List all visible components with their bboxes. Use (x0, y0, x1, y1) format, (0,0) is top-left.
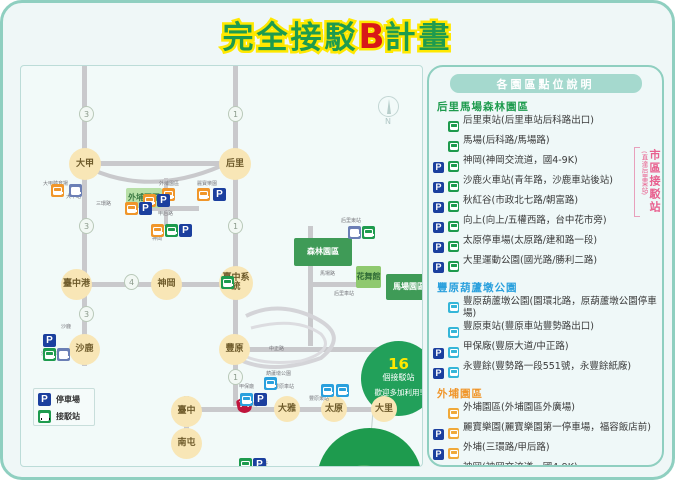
zone-stop-item[interactable]: P沙鹿火車站(青年路，沙鹿車站後站) (433, 175, 662, 194)
map-zone-box[interactable]: 花舞館 (356, 266, 381, 288)
shuttle-bus-icon (448, 367, 459, 378)
map-station-label: 后里車站 (334, 291, 354, 297)
compass-icon: N (376, 96, 400, 126)
shuttle-bus-icon (448, 448, 459, 459)
parking-icon[interactable]: P (139, 202, 152, 215)
shuttle-bus-icon (448, 161, 459, 172)
zone-stop-label: 甲保廠(豐原大道/中正路) (463, 341, 662, 353)
title-badge-b: B (359, 17, 385, 57)
zone-section-title: 豐原葫蘆墩公園 (437, 280, 662, 295)
zone-stop-label: 向上(向上/五權西路，台中花市旁) (463, 215, 662, 227)
shuttle-bus-icon (38, 410, 51, 423)
parking-icon: P (433, 242, 444, 253)
zone-stop-label: 馬場(后科路/馬場路) (463, 135, 662, 147)
leopard-cat-mascot (328, 458, 400, 467)
shuttle-bus-icon (448, 428, 459, 439)
map-zone-box[interactable]: 森林園區 (294, 238, 352, 266)
zone-stop-item[interactable]: P秋紅谷(市政北七路/朝富路) (433, 195, 662, 214)
map-canvas: N 16 個接駁站 歡迎多加利用! P 停車場 接駁站 (21, 66, 422, 466)
shuttle-count-number: 16 (388, 358, 409, 371)
highway-marker-icon: 1 (228, 369, 243, 385)
map-city-node[interactable]: 大雅 (274, 396, 300, 422)
zone-stop-label: 后里東站(后里車站后科路出口) (463, 115, 662, 127)
parking-icon[interactable]: P (213, 188, 226, 201)
shuttle-bus-icon (448, 121, 459, 132)
legend-label-parking: 停車場 (56, 394, 80, 405)
shuttle-bus-icon (448, 347, 459, 358)
zone-stop-item[interactable]: P大里運動公園(國光路/勝利二路) (433, 255, 662, 274)
zone-stop-label: 大里運動公園(國光路/勝利二路) (463, 255, 662, 267)
map-city-node[interactable]: 臺中 (171, 396, 202, 427)
shuttle-bus-icon[interactable] (51, 184, 64, 197)
highway-marker-icon: 3 (79, 218, 94, 234)
shuttle-bus-icon (448, 302, 459, 313)
map-station-label: 沙鹿 (61, 324, 71, 330)
shuttle-bus-icon[interactable] (239, 458, 252, 467)
shuttle-bus-icon (448, 221, 459, 232)
map-city-node[interactable]: 南屯 (171, 428, 202, 459)
zone-info-panel[interactable]: 各園區點位說明 后里馬場森林園區后里東站(后里車站后科路出口)馬場(后科路/馬場… (427, 65, 664, 467)
city-shuttle-badge: 市區接駁站 (直達后里東站) (640, 149, 660, 214)
parking-icon: P (433, 429, 444, 440)
map-station-label: 甲保廠 (239, 384, 254, 390)
zone-stop-item[interactable]: P神岡(神岡交流道，國4-9K) (433, 155, 662, 174)
parking-icon: P (433, 162, 444, 173)
title-text-a: 完全接駁 (223, 18, 359, 58)
shuttle-count-unit: 個接駁站 (383, 371, 415, 384)
zone-stop-item[interactable]: 馬場(后科路/馬場路) (433, 135, 662, 154)
map-city-node[interactable]: 豐原 (219, 334, 250, 365)
zone-stop-label: 太原停車場(太原路/建和路一段) (463, 235, 662, 247)
zone-stop-item[interactable]: 后里東站(后里車站后科路出口) (433, 115, 662, 134)
shuttle-bus-icon[interactable] (264, 377, 277, 390)
zone-sections: 后里馬場森林園區后里東站(后里車站后科路出口)馬場(后科路/馬場路)P神岡(神岡… (429, 99, 662, 467)
road-horizontal-dajia-houli (82, 161, 237, 166)
parking-icon: P (433, 368, 444, 379)
map-city-node[interactable]: 神岡 (151, 269, 182, 300)
zone-section: 豐原葫蘆墩公園豐原葫蘆墩公園(園環北路，原葫蘆墩公園停車場)豐原東站(豐原車站豐… (429, 280, 662, 380)
map-station-label: 后里東站 (341, 218, 361, 224)
map-station-label: 甲后路 (158, 211, 173, 217)
zone-stop-item[interactable]: 外埔園區(外埔園區外廣場) (433, 402, 662, 421)
shuttle-bus-icon (448, 181, 459, 192)
zone-stop-label: 外埔園區(外埔園區外廣場) (463, 402, 662, 414)
road-horizontal-fengyuan (233, 347, 383, 352)
title-text-b: 計畫 (384, 18, 452, 58)
parking-icon[interactable]: P (253, 458, 266, 467)
map-city-node[interactable]: 大里 (371, 396, 397, 422)
shuttle-bus-icon (448, 241, 459, 252)
zone-info-header: 各園區點位說明 (450, 74, 642, 93)
city-shuttle-badge-sub: (直達后里東站) (640, 151, 648, 195)
zone-stop-item[interactable]: P麗寶樂園(麗寶樂園第一停車場，福容飯店前) (433, 422, 662, 441)
zone-stop-item[interactable]: P神岡(神岡交流道，國4-9K) (433, 462, 662, 467)
parking-icon: P (433, 202, 444, 213)
legend-item-shuttle: 接駁站 (38, 410, 90, 423)
map-station-label: 中正路 (269, 346, 284, 352)
zone-section: 后里馬場森林園區后里東站(后里車站后科路出口)馬場(后科路/馬場路)P神岡(神岡… (429, 99, 662, 274)
zone-stop-item[interactable]: 豐原葫蘆墩公園(園環北路，原葫蘆墩公園停車場) (433, 296, 662, 320)
highway-marker-icon: 3 (79, 306, 94, 322)
shuttle-bus-icon[interactable] (336, 384, 349, 397)
map-city-node[interactable]: 大甲 (69, 148, 101, 180)
shuttle-bus-icon[interactable] (151, 224, 164, 237)
parking-icon: P (433, 348, 444, 359)
map-station-label: 外埔園區 (159, 181, 179, 187)
map-station-label: 豐原車站 (274, 384, 294, 390)
parking-icon[interactable]: P (179, 224, 192, 237)
map-zone-box[interactable]: 馬場園區 (386, 274, 423, 300)
shuttle-bus-icon (448, 327, 459, 338)
zone-stop-label: 豐原東站(豐原車站豐勢路出口) (463, 321, 662, 333)
highway-marker-icon: 3 (79, 106, 94, 122)
highway-marker-icon: 1 (228, 218, 243, 234)
parking-icon[interactable]: P (254, 393, 267, 406)
map-station-label: 麗寶樂園 (197, 181, 217, 187)
station-marker-icon[interactable] (348, 226, 361, 239)
map-city-node[interactable]: 沙鹿 (69, 334, 100, 365)
shuttle-bus-icon (448, 408, 459, 419)
shuttle-bus-icon[interactable] (125, 202, 138, 215)
zone-stop-item[interactable]: P永豐餘(豐勢路一段551號，永豐餘紙廠) (433, 361, 662, 380)
zone-stop-item[interactable]: P甲保廠(豐原大道/中正路) (433, 341, 662, 360)
page-title: 完全接駁B計畫 (3, 17, 672, 59)
zone-stop-label: 沙鹿火車站(青年路，沙鹿車站後站) (463, 175, 662, 187)
map-city-node[interactable]: 臺中港 (61, 269, 92, 300)
zone-stop-item[interactable]: 豐原東站(豐原車站豐勢路出口) (433, 321, 662, 340)
highway-marker-icon: 4 (124, 274, 139, 290)
zone-stop-item[interactable]: P太原停車場(太原路/建和路一段) (433, 235, 662, 254)
compass-label: N (376, 117, 400, 126)
zone-section-title: 后里馬場森林園區 (437, 99, 662, 114)
city-shuttle-badge-main: 市區接駁站 (648, 149, 660, 214)
parking-icon: P (433, 262, 444, 273)
map-legend: P 停車場 接駁站 (33, 388, 95, 426)
zone-stop-label: 麗寶樂園(麗寶樂園第一停車場，福容飯店前) (463, 422, 662, 434)
shuttle-bus-icon (448, 201, 459, 212)
parking-icon: P (38, 393, 51, 406)
legend-label-shuttle: 接駁站 (56, 411, 80, 422)
zone-stop-label: 神岡(神岡交流道，國4-9K) (463, 462, 662, 467)
parking-icon: P (433, 222, 444, 233)
map-station-label: 三環路 (96, 201, 111, 207)
map-station-label: 馬場路 (320, 271, 335, 277)
shuttle-bus-icon[interactable] (240, 393, 253, 406)
zone-stop-item[interactable]: P向上(向上/五權西路，台中花市旁) (433, 215, 662, 234)
zone-stop-label: 永豐餘(豐勢路一段551號，永豐餘紙廠) (463, 361, 662, 373)
parking-icon[interactable]: P (157, 194, 170, 207)
zone-stop-item[interactable]: P外埔(三環路/甲后路) (433, 442, 662, 461)
parking-icon[interactable]: P (43, 334, 56, 347)
page-root: 完全接駁B計畫 (0, 0, 675, 480)
shuttle-bus-icon (448, 141, 459, 152)
legend-item-parking: P 停車場 (38, 393, 90, 406)
parking-icon: P (433, 449, 444, 460)
shuttle-bus-icon[interactable] (321, 384, 334, 397)
station-marker-icon[interactable] (69, 184, 82, 197)
shuttle-bus-icon[interactable] (165, 224, 178, 237)
zone-stop-label: 秋紅谷(市政北七路/朝富路) (463, 195, 662, 207)
shuttle-bus-icon[interactable] (221, 276, 234, 289)
shuttle-bus-icon[interactable] (362, 226, 375, 239)
parking-icon: P (433, 182, 444, 193)
zone-section: 外埔園區外埔園區(外埔園區外廣場)P麗寶樂園(麗寶樂園第一停車場，福容飯店前)P… (429, 386, 662, 467)
map-city-node[interactable]: 后里 (219, 148, 251, 180)
highway-marker-icon: 1 (228, 106, 243, 122)
zone-stop-label: 豐原葫蘆墩公園(園環北路，原葫蘆墩公園停車場) (463, 296, 662, 320)
shuttle-bus-icon (448, 261, 459, 272)
zone-stop-label: 神岡(神岡交流道，國4-9K) (463, 155, 662, 167)
station-marker-icon[interactable] (57, 348, 70, 361)
shuttle-bus-icon[interactable] (197, 188, 210, 201)
zone-stop-label: 外埔(三環路/甲后路) (463, 442, 662, 454)
shuttle-bus-icon[interactable] (43, 348, 56, 361)
map-panel[interactable]: N 16 個接駁站 歡迎多加利用! P 停車場 接駁站 (20, 65, 423, 467)
zone-section-title: 外埔園區 (437, 386, 662, 401)
